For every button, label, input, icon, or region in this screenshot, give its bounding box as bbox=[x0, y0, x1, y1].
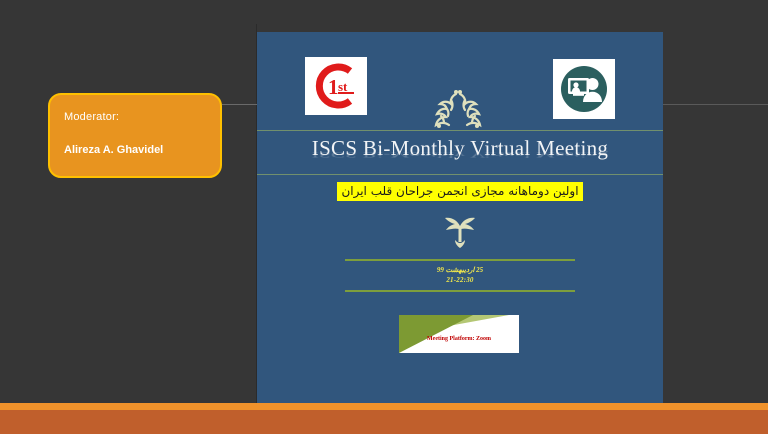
floral-flourish-ornament bbox=[410, 86, 506, 134]
meeting-time: 21-22:30 bbox=[257, 276, 663, 284]
moderator-callout[interactable]: Moderator: Alireza A. Ghavidel bbox=[48, 93, 222, 178]
meeting-platform-box: Meeting Platform: Zoom bbox=[399, 315, 519, 353]
moderator-name: Alireza A. Ghavidel bbox=[64, 144, 220, 156]
bottom-accent-stripe bbox=[0, 403, 768, 410]
callout-connector-line bbox=[222, 104, 262, 105]
meeting-platform-label: Meeting Platform: Zoom bbox=[399, 336, 519, 342]
first-mark-icon: 1 st bbox=[310, 61, 362, 111]
bottom-band bbox=[0, 410, 768, 434]
svg-text:st: st bbox=[338, 79, 348, 94]
right-guide-line bbox=[663, 104, 768, 105]
presentation-slide[interactable]: 1 st bbox=[257, 32, 663, 404]
slide-viewer: Moderator: Alireza A. Ghavidel 1 st bbox=[0, 0, 768, 434]
svg-text:1: 1 bbox=[328, 75, 339, 99]
iscs-1st-logo: 1 st bbox=[305, 57, 367, 115]
slide-title: ISCS Bi-Monthly Virtual Meeting bbox=[257, 136, 663, 161]
date-rule-bottom bbox=[345, 290, 575, 292]
subtitle-persian: اولین دوماهانه مجازی انجمن جراحان قلب ای… bbox=[337, 182, 582, 201]
platform-wedge-dark bbox=[399, 315, 473, 353]
webinar-presentation-icon bbox=[557, 62, 611, 116]
title-rule-bottom bbox=[257, 174, 663, 175]
meeting-date: 25 اردیبهشت 99 bbox=[257, 266, 663, 274]
date-rule-top bbox=[345, 259, 575, 261]
webinar-logo bbox=[553, 59, 615, 119]
moderator-label: Moderator: bbox=[64, 111, 220, 123]
subtitle-container: اولین دوماهانه مجازی انجمن جراحان قلب ای… bbox=[257, 182, 663, 201]
bird-fleuron-ornament bbox=[437, 214, 483, 252]
title-rule-top bbox=[257, 130, 663, 131]
